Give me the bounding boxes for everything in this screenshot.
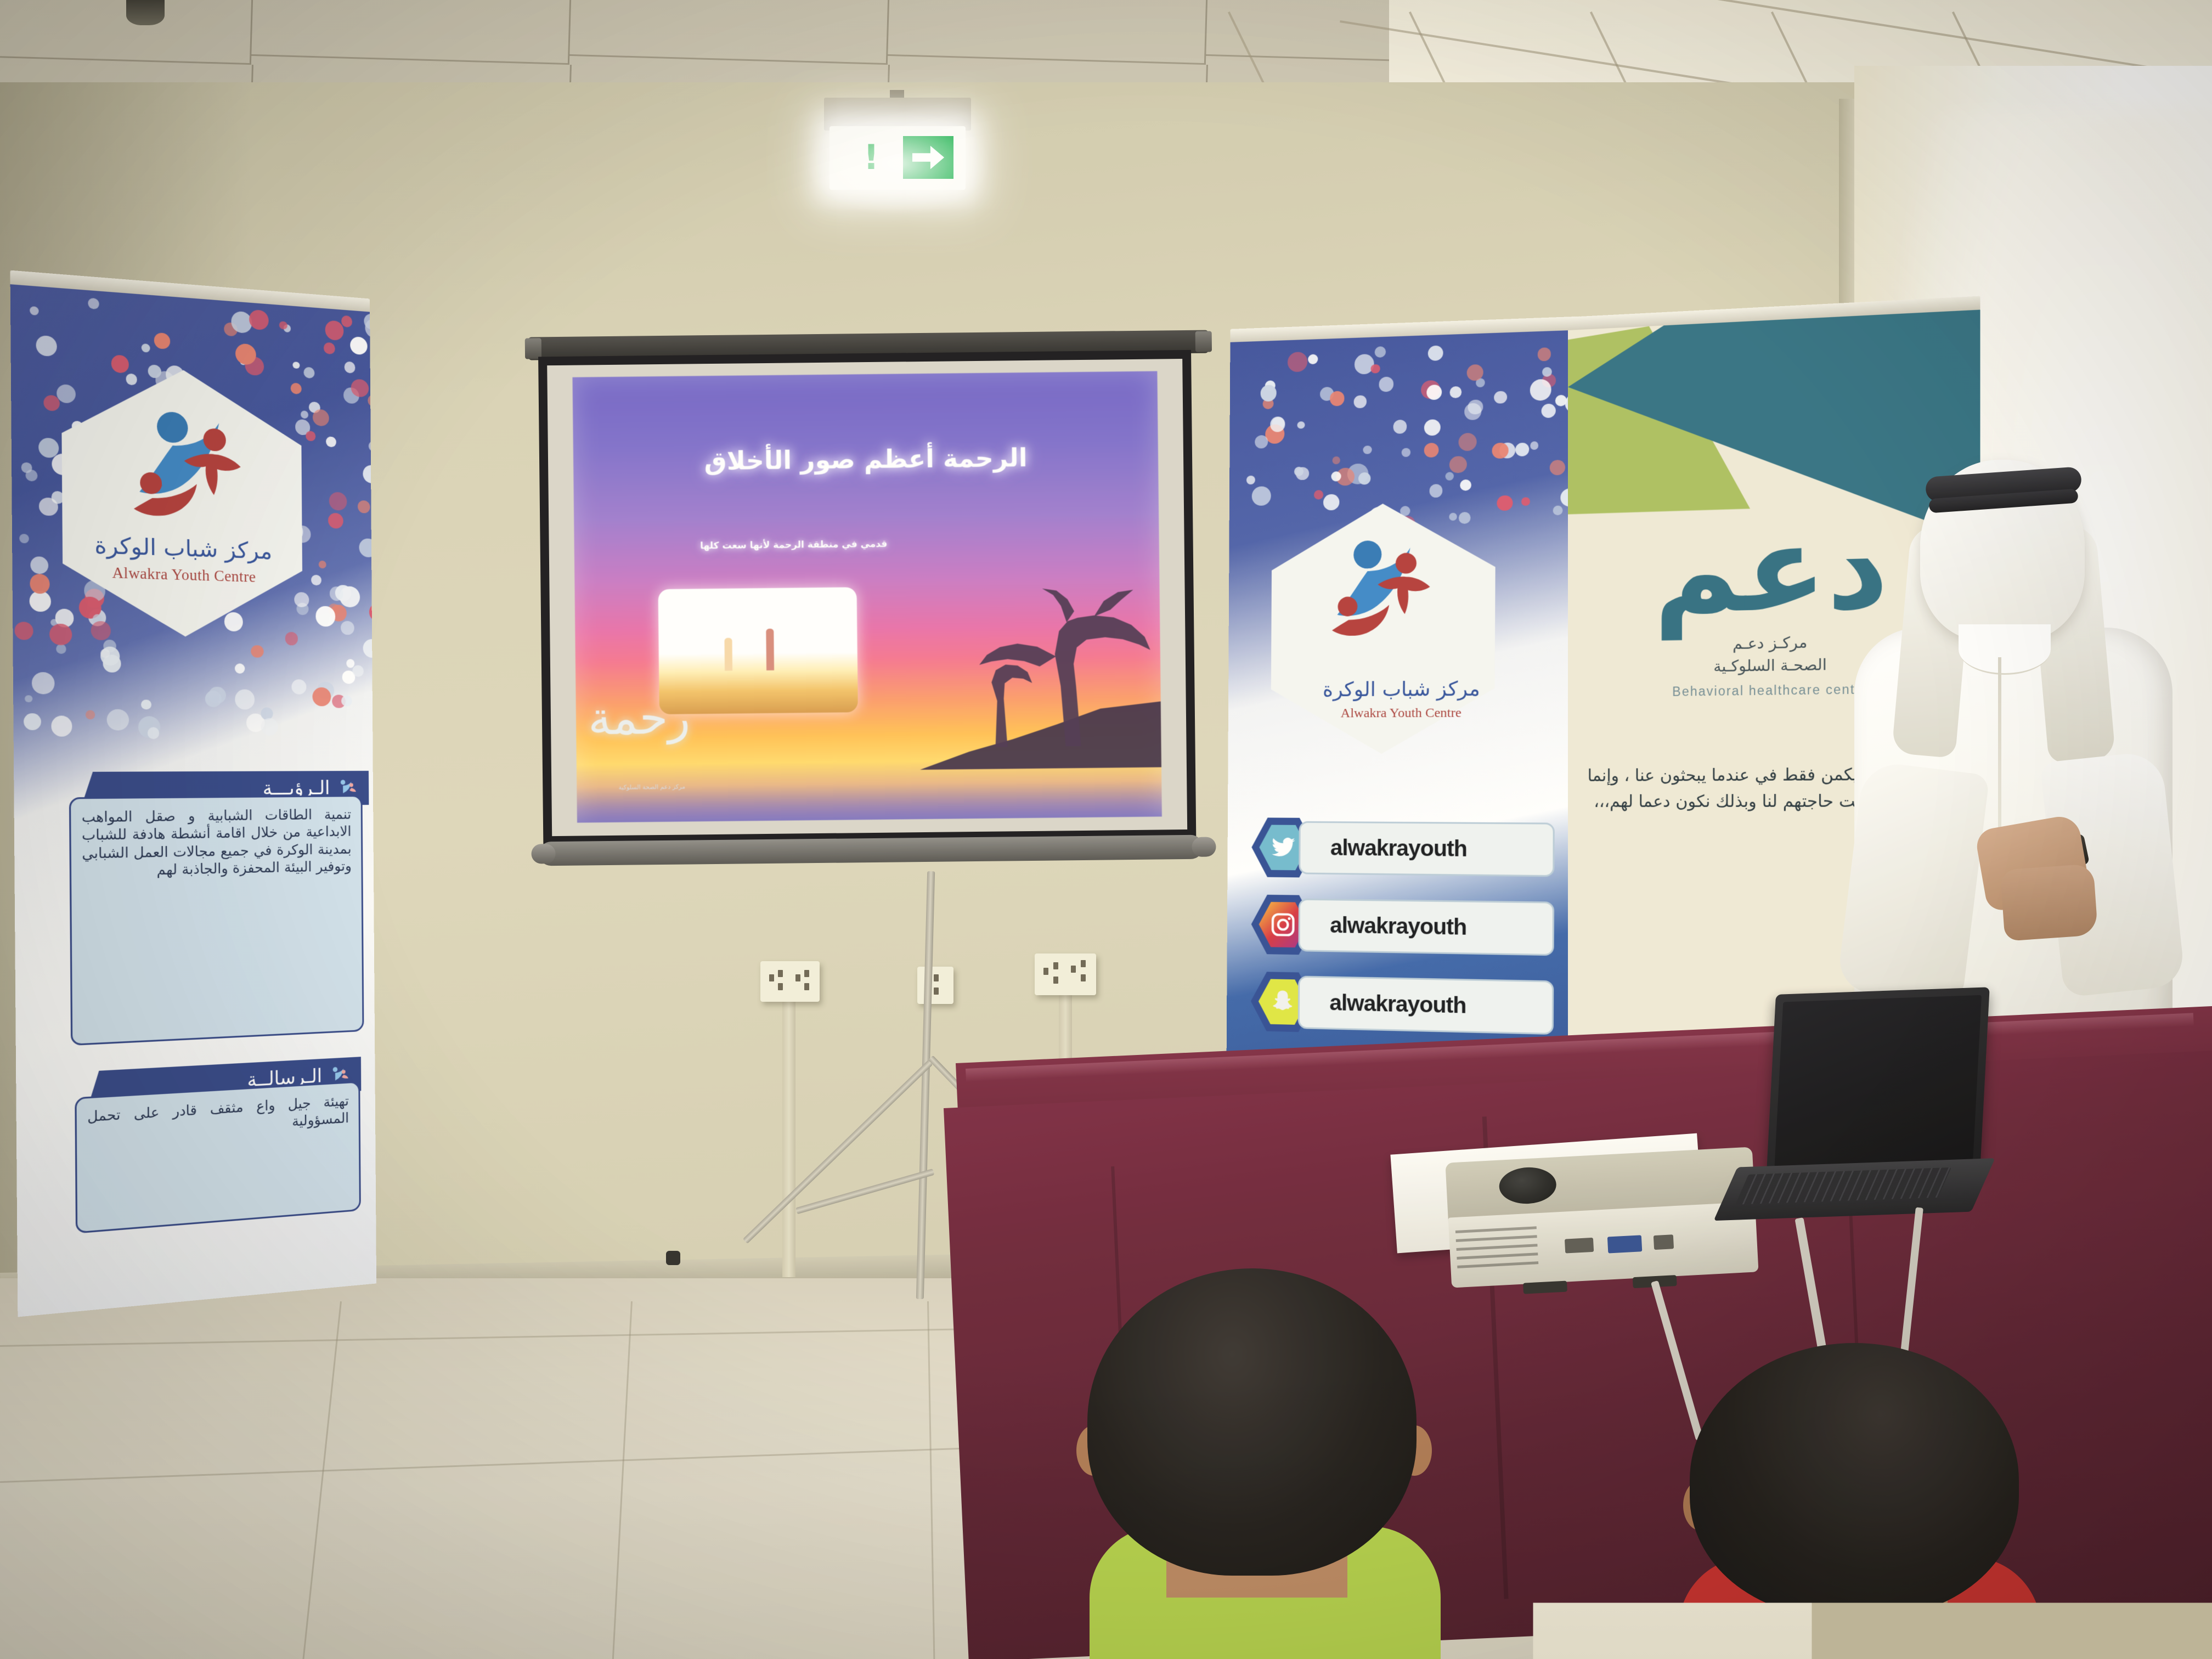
decorative-dot	[1255, 435, 1268, 449]
laptop-screen[interactable]	[1775, 995, 1982, 1167]
decorative-dot	[311, 574, 321, 585]
decorative-dot	[57, 384, 76, 404]
projector-foot-left	[1523, 1281, 1567, 1294]
slide-calligraphy-mark: رحمة	[588, 695, 654, 788]
decorative-dot	[1450, 386, 1462, 398]
decorative-dot	[1333, 456, 1340, 464]
decorative-dot	[51, 716, 72, 737]
snapchat-handle: alwakrayouth	[1329, 990, 1466, 1018]
decorative-dot	[251, 645, 264, 658]
decorative-dot	[1354, 396, 1367, 408]
laptop-lid	[1767, 987, 1990, 1176]
ceiling-tile	[569, 0, 890, 65]
decorative-dot	[1323, 494, 1339, 511]
decorative-dot	[235, 663, 245, 674]
decorative-dot	[1252, 486, 1271, 506]
snapchat-handle-pill[interactable]: alwakrayouth	[1298, 975, 1554, 1035]
decorative-dot	[1424, 443, 1439, 458]
decorative-dot	[329, 492, 347, 511]
logo-english-name: Alwakra Youth Centre	[63, 562, 302, 587]
thobe-collar	[1959, 624, 2051, 675]
audience-child-left	[1068, 1268, 1463, 1659]
decorative-dot	[294, 592, 309, 607]
decorative-dot	[25, 695, 32, 702]
decorative-dot	[30, 590, 52, 612]
decorative-dot	[1331, 471, 1341, 482]
decorative-dot	[1530, 379, 1551, 400]
projector-port-hdmi[interactable]	[1565, 1238, 1594, 1254]
slide-calligraphy-caption: مركز دعم الصحة السلوكية	[600, 783, 704, 791]
decorative-dot	[1460, 479, 1471, 491]
mission-box: تهيئة جيل واع مثقف قادر على تحمل المسؤول…	[75, 1081, 361, 1233]
decorative-dot	[1363, 445, 1372, 454]
ceiling-tile	[888, 0, 1208, 65]
decorative-dot	[1466, 364, 1483, 381]
decorative-dot	[292, 362, 300, 369]
decorative-dot	[205, 691, 222, 707]
decorative-dot	[14, 622, 33, 640]
decorative-dot	[1246, 476, 1255, 484]
decorative-dot	[1530, 442, 1538, 450]
decorative-dot	[1314, 490, 1323, 500]
decorative-dot	[1393, 420, 1407, 434]
decorative-dot	[1459, 432, 1477, 451]
child-right-head	[1690, 1343, 2019, 1617]
decorative-dot	[303, 366, 314, 378]
decorative-dot	[1449, 513, 1457, 521]
exit-sign-arabic-label: !	[845, 136, 898, 179]
projector[interactable]	[1445, 1147, 1758, 1289]
vision-text: تنمية الطاقات الشبابية و صقل المواهب الا…	[82, 805, 352, 880]
screen-surface: الرحمة أعظم صور الأخلاق قدمي في منطقة ال…	[547, 359, 1187, 836]
decorative-dot	[1260, 385, 1277, 402]
ceiling-fixture	[126, 0, 165, 25]
decorative-dot	[325, 320, 343, 341]
decorative-dot	[1497, 495, 1513, 511]
decorative-dot	[36, 335, 57, 357]
mission-text: تهيئة جيل واع مثقف قادر على تحمل المسؤول…	[87, 1092, 349, 1144]
weight-bar-cap-left	[531, 844, 555, 864]
decorative-dot	[100, 648, 110, 658]
decorative-dot	[1358, 472, 1371, 485]
decorative-dot	[301, 410, 308, 419]
decorative-dot	[235, 689, 255, 709]
social-row-snapchat[interactable]: alwakrayouth	[1251, 968, 1554, 1042]
decorative-dot	[148, 727, 160, 739]
decorative-dot	[313, 687, 331, 707]
decorative-dot	[1370, 364, 1380, 374]
exit-sign-panel: !	[830, 126, 966, 190]
decorative-dot	[313, 409, 329, 426]
laptop[interactable]	[1719, 988, 1990, 1232]
decorative-dot	[261, 718, 278, 736]
decorative-dot	[1427, 345, 1443, 361]
decorative-dot	[1401, 448, 1410, 457]
roller-end-right	[1195, 331, 1212, 352]
decorative-dot	[1446, 472, 1454, 481]
decorative-dot	[141, 699, 151, 709]
decorative-dot	[1297, 421, 1305, 429]
projector-port-vga[interactable]	[1607, 1235, 1642, 1253]
wall-socket-2[interactable]	[917, 967, 953, 1004]
decorative-dot	[291, 382, 302, 394]
youth-centre-logo-icon	[127, 402, 253, 530]
decorative-dot	[154, 332, 170, 350]
social-row-instagram[interactable]: alwakrayouth	[1251, 891, 1554, 963]
decorative-dot	[285, 632, 298, 645]
slide-tree-silhouette	[929, 548, 1161, 747]
decorative-dot	[1522, 498, 1530, 506]
decorative-dot	[30, 574, 50, 594]
decorative-dot	[88, 297, 99, 309]
decorative-dot	[1550, 460, 1566, 476]
decorative-dot	[1374, 346, 1386, 358]
social-row-twitter[interactable]: alwakrayouth	[1251, 814, 1555, 883]
decorative-dot	[319, 560, 326, 568]
slide-subtitle: قدمي في منطقة الرحمة لأنها سعت كلها	[640, 538, 947, 552]
decorative-dot	[30, 306, 38, 315]
decorative-dot	[25, 470, 37, 482]
decorative-dot	[30, 556, 48, 574]
decorative-dot	[1424, 419, 1440, 436]
twitter-handle-pill[interactable]: alwakrayouth	[1299, 821, 1555, 877]
decorative-dot	[49, 624, 71, 646]
decorative-dot	[1538, 348, 1551, 362]
logo-arabic-name: مركز شباب الوكرة	[63, 531, 302, 566]
decorative-dot	[1379, 376, 1393, 392]
decorative-dot	[291, 679, 306, 695]
decorative-dot	[1541, 404, 1556, 419]
decorative-dot	[358, 500, 370, 513]
banner-alwakra-youth-vision-mission: مركز شباب الوكرة Alwakra Youth Centre ال…	[10, 270, 377, 1317]
youth-centre-logo-icon	[1327, 533, 1442, 646]
decorative-dot	[341, 621, 354, 635]
vision-box: تنمية الطاقات الشبابية و صقل المواهب الا…	[69, 795, 364, 1046]
thobe-placket	[1998, 657, 2001, 833]
decorative-dot	[315, 606, 336, 627]
screen-frame: الرحمة أعظم صور الأخلاق قدمي في منطقة ال…	[538, 350, 1196, 845]
projected-slide: الرحمة أعظم صور الأخلاق قدمي في منطقة ال…	[572, 371, 1161, 823]
projection-screen: الرحمة أعظم صور الأخلاق قدمي في منطقة ال…	[528, 330, 1215, 897]
decorative-dot	[1308, 354, 1318, 364]
wall-conduit-1	[782, 994, 795, 1277]
audience-child-right	[1679, 1343, 2041, 1659]
weight-bar-cap-right	[1192, 837, 1216, 856]
decorative-dot	[107, 709, 129, 731]
decorative-dot	[56, 644, 66, 654]
instagram-handle-pill[interactable]: alwakrayouth	[1298, 899, 1554, 956]
decorative-dot	[91, 621, 111, 640]
roller-end-left	[525, 338, 541, 359]
slide-title: الرحمة أعظم صور الأخلاق	[573, 442, 1159, 477]
exit-sign-housing	[824, 98, 971, 131]
decorative-dot	[111, 355, 129, 374]
decorative-dot	[1449, 456, 1467, 473]
child-left-head	[1087, 1268, 1417, 1576]
exit-sign: !	[824, 98, 971, 196]
decorative-dot	[344, 361, 356, 373]
projector-port-usb[interactable]	[1654, 1234, 1674, 1250]
exit-arrow-icon	[903, 136, 953, 179]
decorative-dot	[126, 374, 137, 386]
decorative-dot	[86, 710, 95, 719]
decorative-dot	[324, 342, 335, 354]
decorative-dot	[341, 696, 352, 707]
banner-dot-pattern	[1229, 330, 1581, 523]
presenter-hand-lower	[2000, 864, 2098, 941]
decorative-dot	[39, 497, 58, 516]
decorative-dot	[1494, 391, 1507, 404]
ceiling-tile	[251, 0, 572, 65]
decorative-dot	[328, 512, 344, 529]
decorative-dot	[142, 343, 150, 353]
banner-body: مركز شباب الوكرة Alwakra Youth Centre ال…	[10, 284, 376, 1317]
decorative-dot	[1555, 394, 1567, 406]
decorative-dot	[1427, 385, 1442, 400]
decorative-dot	[1429, 484, 1443, 498]
decorative-dot	[1553, 505, 1562, 515]
twitter-handle: alwakrayouth	[1330, 836, 1467, 862]
decorative-dot	[1516, 443, 1530, 456]
wall-socket-1[interactable]	[760, 961, 820, 1002]
decorative-dot	[1330, 391, 1345, 407]
decorative-dot	[1542, 367, 1552, 377]
instagram-handle: alwakrayouth	[1330, 913, 1466, 940]
decorative-dot	[224, 612, 243, 631]
decorative-dot	[19, 534, 29, 544]
decorative-dot	[1459, 512, 1471, 524]
decorative-dot	[330, 586, 343, 601]
decorative-dot	[326, 436, 336, 447]
logo-arabic-name: مركز شباب الوكرة	[1228, 677, 1578, 702]
wall-socket-3[interactable]	[1035, 953, 1096, 995]
decorative-dot	[249, 309, 269, 330]
decorative-dot	[306, 431, 315, 441]
projector-vent	[1455, 1222, 1539, 1278]
decorative-dot	[24, 713, 41, 730]
decorative-dot	[279, 321, 287, 330]
decorative-dot	[32, 672, 54, 694]
logo-english-name: Alwakra Youth Centre	[1228, 706, 1578, 721]
photo-scene: !	[0, 0, 2212, 1659]
decorative-dot	[1288, 352, 1308, 373]
tripod-foot-left	[666, 1251, 680, 1265]
decorative-dot	[353, 665, 364, 676]
decorative-dot	[350, 336, 367, 355]
decorative-dot	[341, 315, 352, 328]
